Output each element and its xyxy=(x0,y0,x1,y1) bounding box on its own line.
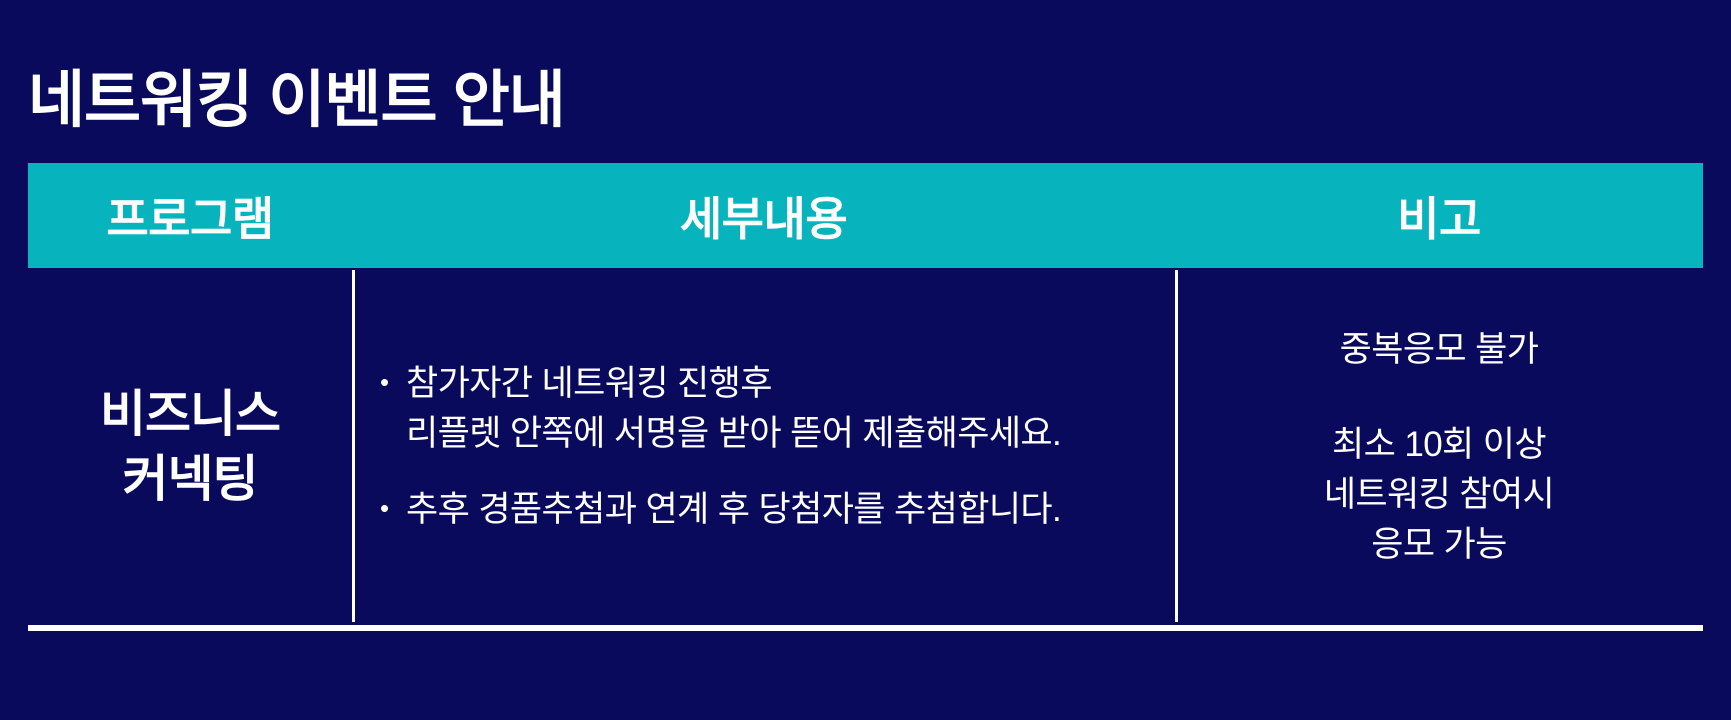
list-item: 추후 경품추첨과 연계 후 당첨자를 추첨합니다. xyxy=(380,485,1061,535)
remarks-text: 중복응모 불가 최소 10회 이상 네트워킹 참여시 응모 가능 xyxy=(1324,325,1554,570)
cell-program: 비즈니스 커넥팅 xyxy=(28,268,352,626)
program-table: 프로그램 세부내용 비고 비즈니스 커넥팅 참가자간 네트워킹 진행후 리플렛 … xyxy=(28,163,1703,631)
bullet-2-line-1: 추후 경품추첨과 연계 후 당첨자를 추첨합니다. xyxy=(406,485,1061,535)
remarks-group-1: 중복응모 불가 xyxy=(1324,325,1554,375)
slide-canvas: 네트워킹 이벤트 안내 프로그램 세부내용 비고 비즈니스 커넥팅 참가자간 네… xyxy=(0,0,1731,720)
cell-remarks: 중복응모 불가 최소 10회 이상 네트워킹 참여시 응모 가능 xyxy=(1175,268,1703,626)
program-name-line-2: 커넥팅 xyxy=(100,447,280,512)
remarks-2-line-2: 네트워킹 참여시 xyxy=(1324,470,1554,520)
program-name-line-1: 비즈니스 xyxy=(100,382,280,447)
bullet-1-line-2: 리플렛 안쪽에 서명을 받아 뜯어 제출해주세요. xyxy=(406,409,1061,459)
table-header-row: 프로그램 세부내용 비고 xyxy=(28,163,1703,268)
column-header-details: 세부내용 xyxy=(352,163,1175,268)
program-name: 비즈니스 커넥팅 xyxy=(100,382,280,512)
remarks-2-line-3: 응모 가능 xyxy=(1324,520,1554,570)
column-divider-right xyxy=(1175,270,1178,622)
column-divider-left xyxy=(352,270,355,622)
remarks-group-2: 최소 10회 이상 네트워킹 참여시 응모 가능 xyxy=(1324,420,1554,569)
remarks-spacer xyxy=(1324,374,1554,420)
bullet-1-line-1: 참가자간 네트워킹 진행후 xyxy=(406,359,1061,409)
remarks-1-line-1: 중복응모 불가 xyxy=(1324,325,1554,375)
remarks-2-line-1: 최소 10회 이상 xyxy=(1324,420,1554,470)
table-row: 비즈니스 커넥팅 참가자간 네트워킹 진행후 리플렛 안쪽에 서명을 받아 뜯어… xyxy=(28,268,1703,626)
page-title: 네트워킹 이벤트 안내 xyxy=(28,65,565,136)
column-header-program: 프로그램 xyxy=(28,163,352,268)
column-header-remarks: 비고 xyxy=(1175,163,1703,268)
details-bullet-list: 참가자간 네트워킹 진행후 리플렛 안쪽에 서명을 받아 뜯어 제출해주세요. … xyxy=(380,359,1061,534)
table-bottom-rule xyxy=(28,625,1703,631)
cell-details: 참가자간 네트워킹 진행후 리플렛 안쪽에 서명을 받아 뜯어 제출해주세요. … xyxy=(352,268,1175,626)
list-item: 참가자간 네트워킹 진행후 리플렛 안쪽에 서명을 받아 뜯어 제출해주세요. xyxy=(380,359,1061,458)
